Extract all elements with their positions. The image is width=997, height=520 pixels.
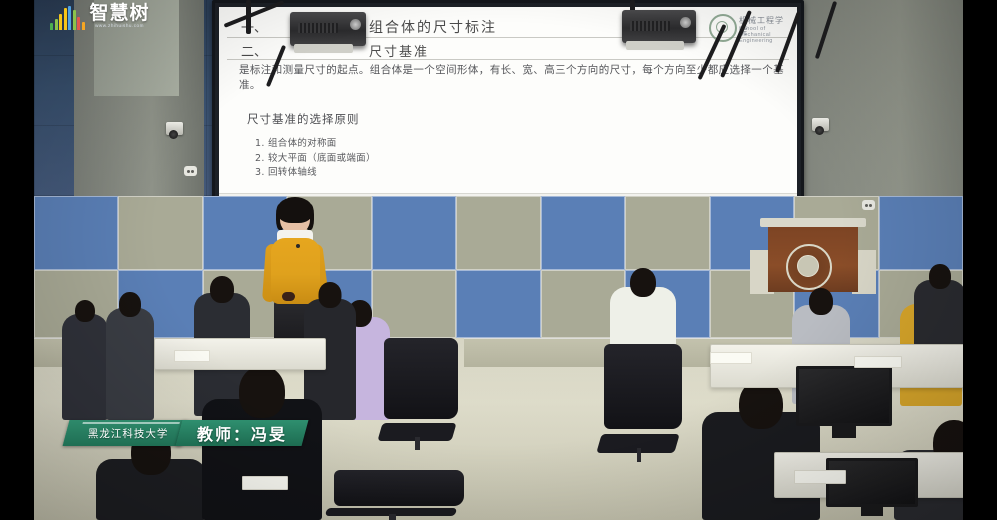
teacher-name: 教师：冯旻 (197, 421, 287, 445)
logo-bar (55, 19, 58, 30)
letterbox-bar-right (963, 0, 997, 520)
podium-emblem-icon (786, 244, 832, 290)
logo-bars-icon (50, 6, 85, 30)
teacher-name-badge: 教师：冯旻 (175, 420, 308, 446)
notebook-paper (710, 352, 752, 364)
wall-panel (34, 196, 118, 270)
logo-bar (64, 8, 67, 30)
lower-third-banner: 黑龙江科技大学 教师：冯旻 (66, 420, 305, 446)
wall-speaker-right (862, 200, 875, 210)
chair-right-1 (604, 344, 682, 462)
wall-panel (879, 196, 963, 270)
school-logo-line2: School of Mechanical Engineering (739, 26, 787, 44)
slide-principles-list: 1. 组合体的对称面 2. 较大平面（底面或端面） 3. 回转体轴线 (255, 137, 376, 181)
wall-panel (372, 196, 456, 270)
notebook-paper (174, 350, 210, 362)
wall-socket-left (184, 166, 197, 176)
chair-center (384, 338, 458, 450)
university-name-badge: 黑龙江科技大学 (63, 420, 188, 446)
logo-bar (73, 10, 76, 30)
chair-right-2 (334, 470, 464, 520)
monitor-right-1 (796, 366, 892, 438)
video-frame: 一、 组合体的尺寸标注 二、 尺寸基准 是标注和测量尺寸的起点。组合体是一个空间… (0, 0, 997, 520)
list-item: 3. 回转体轴线 (255, 166, 376, 181)
logo-bar (50, 23, 53, 30)
monitor-right-2 (826, 458, 918, 516)
notebook-paper (794, 470, 846, 484)
ceiling-projector-left (290, 12, 366, 46)
slide-principles-heading: 尺寸基准的选择原则 (247, 111, 360, 127)
notebook-paper (854, 356, 902, 368)
security-camera-right (812, 118, 829, 131)
university-name: 黑龙江科技大学 (88, 426, 169, 441)
wall-panel (456, 196, 540, 270)
list-item: 2. 较大平面（底面或端面） (255, 152, 376, 167)
wall-panel (541, 196, 625, 270)
student-front-left-1 (62, 300, 108, 420)
logo-url: www.zhihuishu.com (90, 23, 150, 29)
logo-bar (82, 22, 85, 30)
slide-section-number: 一、 (241, 17, 267, 36)
list-item: 1. 组合体的对称面 (255, 137, 376, 152)
slide-title: 组合体的尺寸标注 (369, 17, 497, 37)
slide-subtitle: 尺寸基准 (369, 41, 429, 60)
logo-bar (59, 14, 62, 30)
wall-panel (118, 196, 202, 270)
security-camera-left (166, 122, 183, 135)
wall-panel (456, 270, 540, 338)
ceiling-projector-right (622, 10, 696, 43)
zhihuishu-logo: 智慧树 www.zhihuishu.com (50, 4, 150, 30)
letterbox-bar-left (0, 0, 34, 520)
wall-panel (625, 196, 709, 270)
logo-bar (68, 6, 71, 30)
logo-bar (77, 17, 80, 30)
slide-body-text: 是标注和测量尺寸的起点。组合体是一个空间形体，有长、宽、高三个方向的尺寸，每个方… (239, 63, 791, 93)
student-front-left-2 (106, 292, 154, 420)
notebook-paper (242, 476, 288, 490)
slide-sub-number: 二、 (241, 41, 267, 60)
logo-text: 智慧树 (90, 3, 150, 23)
